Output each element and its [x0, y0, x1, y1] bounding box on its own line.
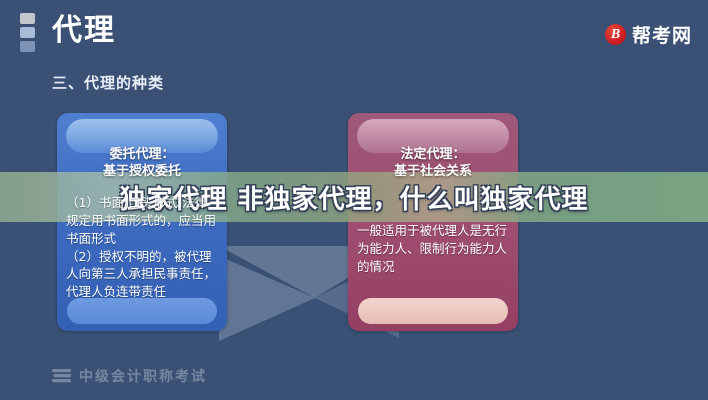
site-logo: B 帮考网 — [605, 21, 692, 48]
card-gloss-bottom — [67, 298, 217, 324]
logo-wordmark: 帮考网 — [632, 21, 692, 48]
concept-card-statutory-agency: 法定代理： 基于社会关系 一般适用于被代理人是无行为能力人、限制行为能力人的情况 — [348, 113, 518, 331]
card-gloss-bottom — [358, 298, 508, 324]
page-title: 代理 — [52, 16, 116, 46]
card-heading: 法定代理： 基于社会关系 — [357, 146, 509, 180]
section-heading: 三、代理的种类 — [52, 72, 164, 93]
card-body-text: （1）书面/口头形式,法律规定用书面形式的，应当用书面形式 （2）授权不明的，被… — [66, 194, 218, 301]
card-heading: 委托代理： 基于授权委托 — [66, 146, 218, 180]
card-body-text: 一般适用于被代理人是无行为能力人、限制行为能力人的情况 — [357, 222, 509, 275]
footer-watermark: 中级会计职称考试 — [52, 366, 207, 386]
logo-badge-icon: B — [605, 24, 626, 45]
watermark-label: 中级会计职称考试 — [79, 366, 207, 386]
stacked-squares-icon — [20, 13, 35, 52]
book-stack-icon — [52, 369, 71, 383]
presentation-slide: 代理 三、代理的种类 B 帮考网 委托代理： 基于授权委托 （1）书面/口头形式… — [0, 0, 708, 400]
concept-card-entrusted-agency: 委托代理： 基于授权委托 （1）书面/口头形式,法律规定用书面形式的，应当用书面… — [57, 113, 227, 331]
